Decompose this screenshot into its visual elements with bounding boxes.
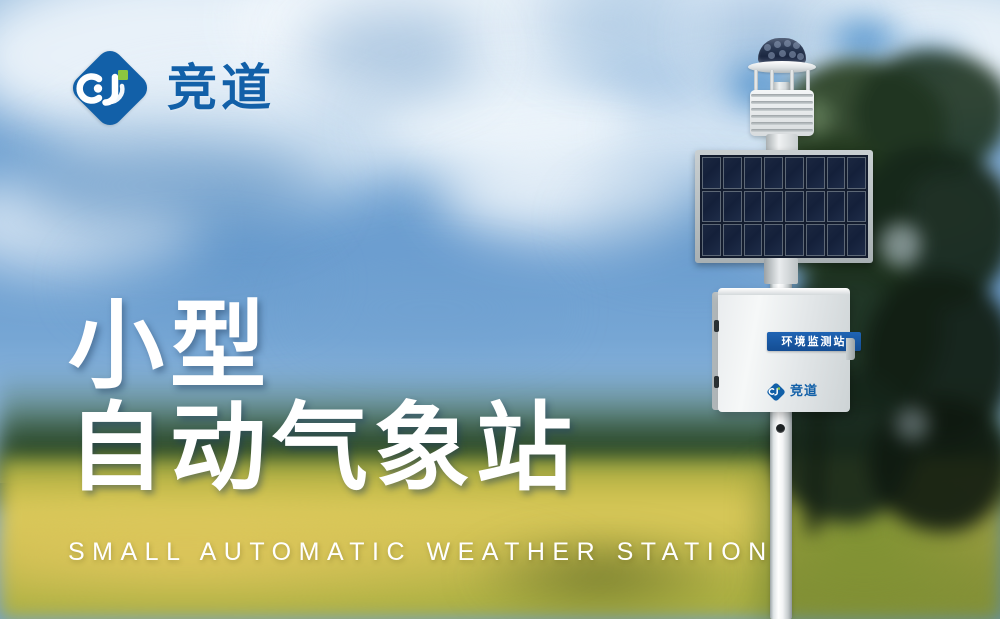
enclosure-logo: 竞道 xyxy=(766,382,818,401)
headline-line-2: 自动气象站 xyxy=(68,398,578,500)
brand-logo[interactable]: 竞道 xyxy=(68,46,275,130)
page-subtitle: SMALL AUTOMATIC WEATHER STATION xyxy=(68,538,774,567)
solar-panel-bracket xyxy=(764,258,798,284)
enclosure-latch xyxy=(846,338,855,360)
radiation-shield xyxy=(750,90,814,136)
control-enclosure: 环境监测站 竞道 xyxy=(718,290,850,412)
cloud-shadow xyxy=(20,136,320,235)
weather-station-device: 环境监测站 竞道 xyxy=(680,20,910,619)
solar-panel-icon xyxy=(695,150,873,263)
weather-station-banner: 竞道 小型 自动气象站 SMALL AUTOMATIC WEATHER STAT… xyxy=(0,0,1000,619)
page-title: 小型 自动气象站 xyxy=(68,296,578,500)
cable-connector xyxy=(714,320,719,332)
enclosure-top-lip xyxy=(718,288,850,295)
headline-line-1: 小型 xyxy=(68,296,578,398)
jingdao-diamond-logo-icon xyxy=(68,46,152,130)
ultrasonic-weather-sensor-icon xyxy=(736,38,828,150)
solar-cells xyxy=(700,155,868,258)
cable-connector xyxy=(714,376,719,388)
enclosure-banner-text: 环境监测站 xyxy=(782,336,847,347)
brand-name: 竞道 xyxy=(167,63,275,113)
jingdao-diamond-logo-icon xyxy=(766,382,785,401)
enclosure-logo-text: 竞道 xyxy=(790,385,818,398)
cloud-shadow xyxy=(300,12,480,92)
pole-bolt xyxy=(776,424,785,433)
